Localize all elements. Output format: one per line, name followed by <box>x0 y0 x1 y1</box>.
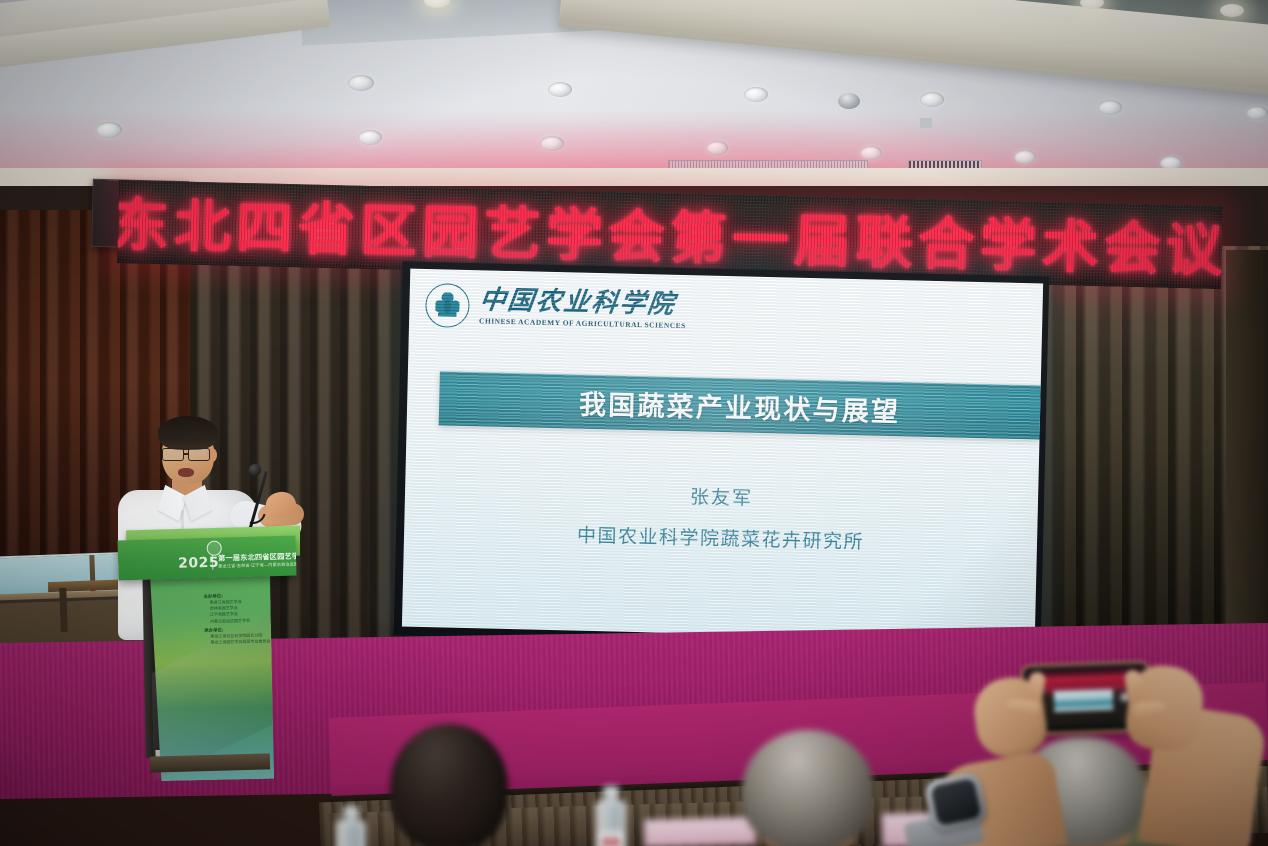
finger <box>1133 701 1166 719</box>
podium-list-item: 内蒙古自治区园艺学会 <box>210 617 282 625</box>
phone-preview-led-banner <box>1040 675 1131 687</box>
side-table-leg <box>59 588 68 632</box>
downlight-icon <box>706 141 728 155</box>
caas-plum-blossom-seal-icon <box>425 283 470 328</box>
slide-affiliation: 中国农业科学院蔬菜花卉研究所 <box>404 517 1037 559</box>
downlight-icon <box>1220 4 1244 17</box>
ceiling-recess <box>298 0 602 46</box>
downlight-icon <box>96 122 122 138</box>
slide-logo-row: 中国农业科学院 CHINESE ACADEMY OF AGRICULTURAL … <box>425 283 687 333</box>
audience-head <box>742 730 874 846</box>
downlight-icon <box>1098 100 1122 115</box>
ceiling-speaker-icon <box>838 93 860 109</box>
downlight-icon <box>348 75 374 91</box>
finger <box>1006 699 1041 716</box>
led-presentation-screen: 中国农业科学院 CHINESE ACADEMY OF AGRICULTURAL … <box>394 261 1050 650</box>
downlight-icon <box>920 92 944 107</box>
eyeglasses-icon <box>162 448 216 461</box>
presenter-mouth <box>178 468 194 477</box>
bottle-label <box>596 830 626 846</box>
downlight-icon <box>540 136 564 151</box>
podium-organizer-list: 主办单位: 黑龙江省园艺学会 吉林省园艺学会 辽宁省园艺学会 内蒙古自治区园艺学… <box>203 589 282 646</box>
slide-content: 中国农业科学院 CHINESE ACADEMY OF AGRICULTURAL … <box>402 269 1043 642</box>
presenter-hair <box>158 416 218 450</box>
bottle-body <box>336 820 366 846</box>
curtain-far-right <box>1226 250 1268 650</box>
slide-title: 我国蔬菜产业现状与展望 <box>579 382 901 429</box>
podium-front-banner: 2025 第一届东北四省区园艺学术论坛 黑龙江省·吉林省·辽宁省—内蒙古自治区园… <box>117 536 296 581</box>
audience-head <box>390 724 508 846</box>
podium-base <box>150 753 270 772</box>
slide-author: 张友军 <box>405 476 1038 518</box>
conference-hall-photo: 东北四省区园艺学会第一届联合学术会议 中国农业科学院 CHINESE ACADE… <box>0 0 1268 846</box>
downlight-icon <box>744 87 768 102</box>
slide-title-band: 我国蔬菜产业现状与展望 <box>439 371 1041 439</box>
downlight-icon <box>1014 150 1036 164</box>
sprinkler-icon <box>920 118 932 128</box>
microphone-icon <box>249 464 261 476</box>
downlight-icon <box>358 130 382 145</box>
slide-logo-chinese: 中国农业科学院 <box>478 288 688 319</box>
phone-preview-slide <box>1054 689 1114 712</box>
name-card <box>644 817 757 846</box>
downlight-icon <box>1246 106 1268 120</box>
downlight-icon <box>548 82 572 97</box>
downlight-icon <box>860 146 882 160</box>
